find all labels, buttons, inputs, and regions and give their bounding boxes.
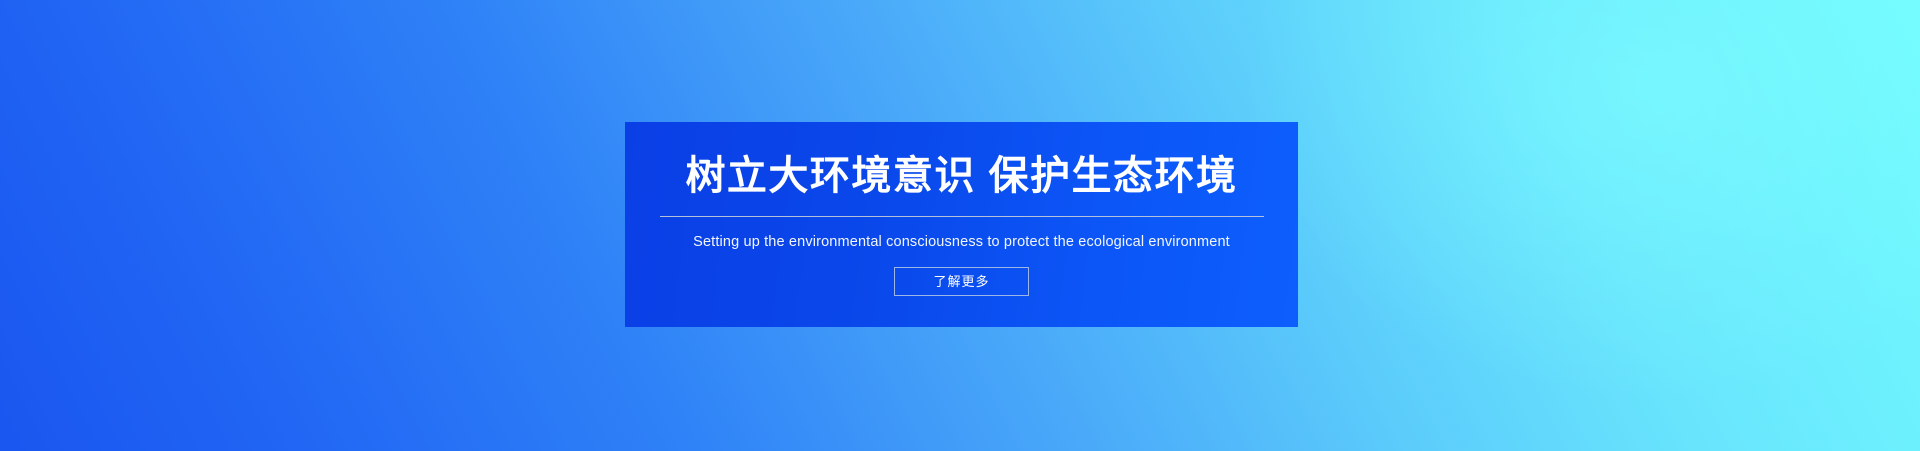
promo-card: 树立大环境意识 保护生态环境 Setting up the environmen… <box>625 122 1298 327</box>
page-title: 树立大环境意识 保护生态环境 <box>685 122 1237 199</box>
hero-banner: 树立大环境意识 保护生态环境 Setting up the environmen… <box>0 0 1920 451</box>
title-divider <box>660 216 1264 217</box>
learn-more-button[interactable]: 了解更多 <box>894 267 1029 296</box>
page-subtitle: Setting up the environmental consciousne… <box>693 217 1230 252</box>
